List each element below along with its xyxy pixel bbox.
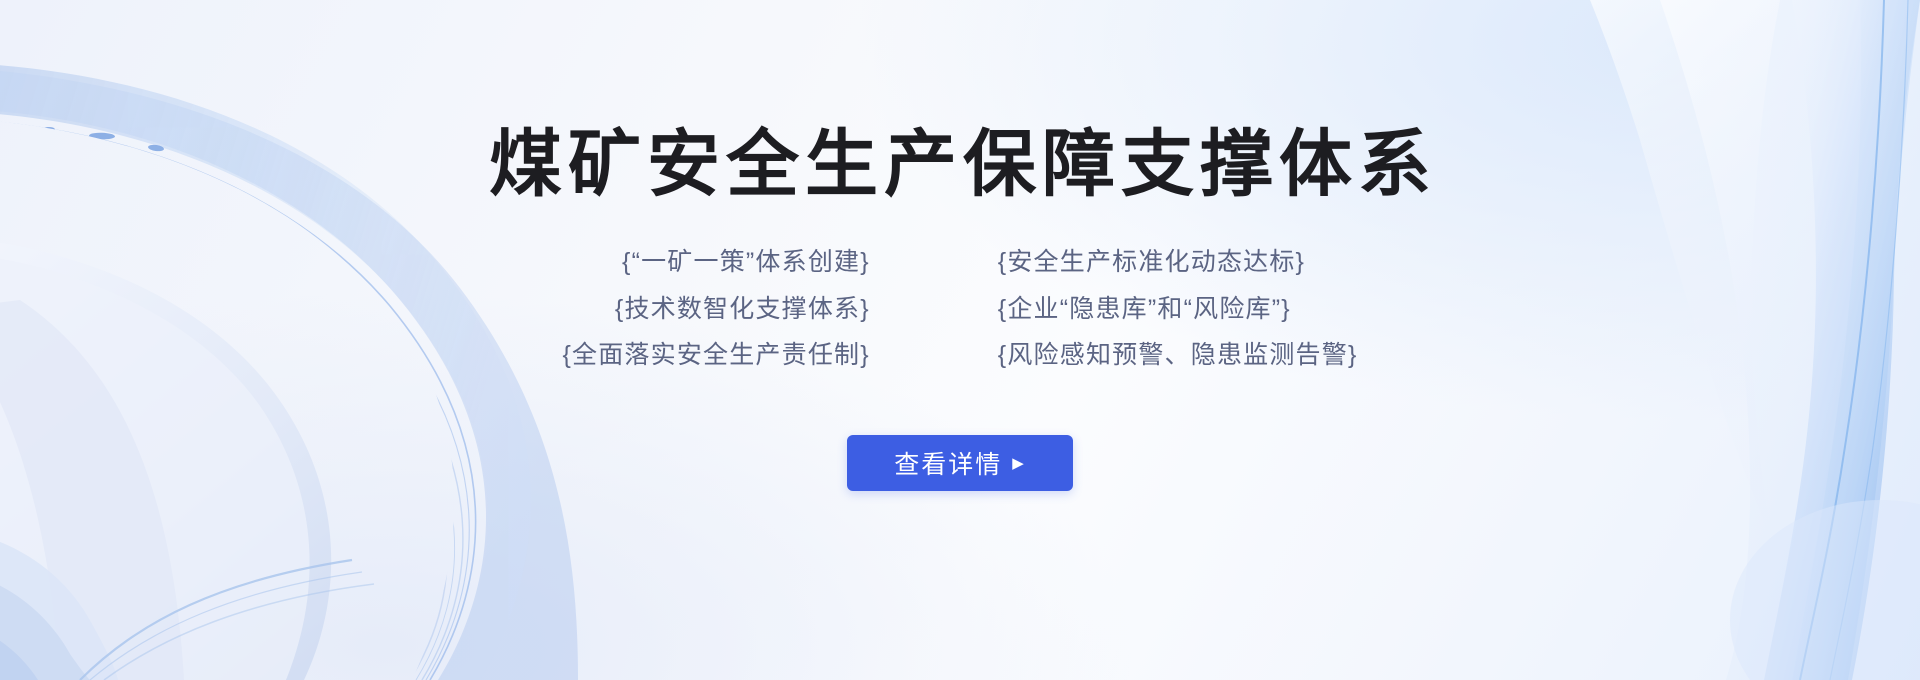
feature-tag-column-right: {安全生产标准化动态达标} {企业“隐患库”和“风险库”} {风险感知预警、隐患… (998, 245, 1358, 373)
hero-banner: 煤矿安全生产保障支撑体系 {“一矿一策”体系创建} {技术数智化支撑体系} {全… (0, 0, 1920, 680)
page-title: 煤矿安全生产保障支撑体系 (483, 128, 1437, 201)
feature-tag: {企业“隐患库”和“风险库”} (998, 292, 1291, 327)
feature-tag: {安全生产标准化动态达标} (998, 245, 1305, 280)
view-details-button[interactable]: 查看详情 ▶ (847, 435, 1073, 491)
cta-container: 查看详情 ▶ (847, 435, 1073, 491)
feature-tag: {风险感知预警、隐患监测告警} (998, 338, 1358, 373)
play-triangle-right-icon: ▶ (1012, 456, 1026, 471)
feature-tag-column-left: {“一矿一策”体系创建} {技术数智化支撑体系} {全面落实安全生产责任制} (562, 245, 869, 373)
feature-tag-grid: {“一矿一策”体系创建} {技术数智化支撑体系} {全面落实安全生产责任制} {… (562, 245, 1357, 373)
feature-tag: {全面落实安全生产责任制} (562, 338, 869, 373)
feature-tag: {技术数智化支撑体系} (615, 292, 870, 327)
view-details-label: 查看详情 (894, 445, 1002, 481)
feature-tag: {“一矿一策”体系创建} (622, 245, 870, 280)
banner-content: 煤矿安全生产保障支撑体系 {“一矿一策”体系创建} {技术数智化支撑体系} {全… (0, 0, 1920, 680)
